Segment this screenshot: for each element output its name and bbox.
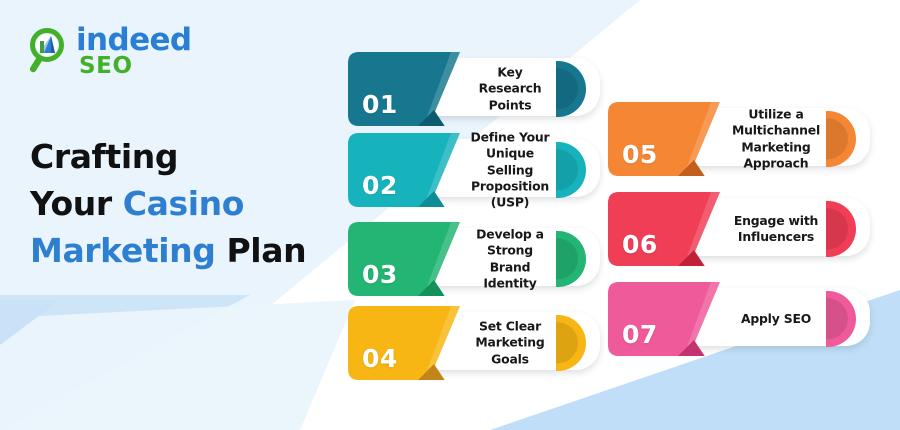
- step-card-inner: 01Key ResearchPoints: [348, 52, 600, 126]
- title-line-2: Your Casino: [30, 181, 330, 228]
- step-label: Key ResearchPoints: [466, 65, 554, 114]
- step-number-block: 04: [348, 306, 466, 380]
- logo-wordmark: indeed SEO: [76, 26, 192, 77]
- logo-word-primary: indeed: [76, 26, 192, 55]
- title-text-plan: Plan: [215, 231, 306, 270]
- step-number-block: 07: [608, 282, 726, 356]
- step-card[interactable]: 04Set ClearMarketing Goals: [348, 306, 600, 380]
- step-label-line: Marketing Approach: [728, 139, 824, 172]
- step-number-block: 05: [608, 102, 726, 176]
- title-text-marketing: Marketing: [30, 231, 215, 270]
- step-card-inner: 04Set ClearMarketing Goals: [348, 306, 600, 380]
- magnifying-glass-chart-icon: [26, 28, 70, 74]
- step-label-line: Key Research: [466, 65, 554, 98]
- step-card[interactable]: 02Define YourUnique SellingProposition (…: [348, 133, 600, 207]
- step-number-block: 03: [348, 222, 466, 296]
- step-card[interactable]: 06Engage withInfluencers: [608, 192, 870, 266]
- step-number-block: 01: [348, 52, 466, 126]
- step-label-line: Influencers: [728, 229, 824, 245]
- step-label: Utilize a MultichannelMarketing Approach: [728, 107, 824, 172]
- step-label-line: Unique Selling: [466, 146, 554, 179]
- step-label-line: Set Clear: [466, 319, 554, 335]
- step-number: 03: [348, 260, 466, 296]
- step-label-line: Proposition (USP): [466, 178, 554, 211]
- step-number-block: 06: [608, 192, 726, 266]
- step-label-line: Apply SEO: [728, 311, 824, 327]
- step-number: 02: [348, 171, 466, 207]
- step-card[interactable]: 07Apply SEO: [608, 282, 870, 356]
- step-label-line: Marketing Goals: [466, 335, 554, 368]
- step-label-line: Engage with: [728, 213, 824, 229]
- step-label-line: Develop a Strong: [466, 227, 554, 260]
- step-card-inner: 03Develop a StrongBrand Identity: [348, 222, 600, 296]
- step-label: Develop a StrongBrand Identity: [466, 227, 554, 292]
- step-label-line: Points: [466, 97, 554, 113]
- step-number: 04: [348, 344, 466, 380]
- step-number: 07: [608, 320, 726, 356]
- step-card-inner: 06Engage withInfluencers: [608, 192, 870, 266]
- step-label-line: Utilize a Multichannel: [728, 107, 824, 140]
- title-line-3: Marketing Plan: [30, 228, 330, 275]
- title-text-your: Your: [30, 184, 123, 223]
- step-card-inner: 02Define YourUnique SellingProposition (…: [348, 133, 600, 207]
- page-title: Crafting Your Casino Marketing Plan: [30, 134, 330, 275]
- step-label-line: Define Your: [466, 129, 554, 145]
- step-card[interactable]: 05Utilize a MultichannelMarketing Approa…: [608, 102, 870, 176]
- step-label: Engage withInfluencers: [728, 213, 824, 246]
- infographic-canvas: indeed SEO Crafting Your Casino Marketin…: [0, 0, 900, 430]
- step-card-inner: 07Apply SEO: [608, 282, 870, 356]
- title-text-casino: Casino: [123, 184, 244, 223]
- step-label: Set ClearMarketing Goals: [466, 319, 554, 368]
- step-label-line: Brand Identity: [466, 259, 554, 292]
- step-card[interactable]: 01Key ResearchPoints: [348, 52, 600, 126]
- step-number: 05: [608, 140, 726, 176]
- step-card-inner: 05Utilize a MultichannelMarketing Approa…: [608, 102, 870, 176]
- brand-logo[interactable]: indeed SEO: [26, 26, 192, 77]
- step-number: 06: [608, 230, 726, 266]
- step-card[interactable]: 03Develop a StrongBrand Identity: [348, 222, 600, 296]
- logo-word-secondary: SEO: [79, 56, 192, 77]
- title-line-1: Crafting: [30, 134, 330, 181]
- title-text-crafting: Crafting: [30, 137, 178, 176]
- step-number: 01: [348, 90, 466, 126]
- step-label: Apply SEO: [728, 311, 824, 327]
- step-number-block: 02: [348, 133, 466, 207]
- step-label: Define YourUnique SellingProposition (US…: [466, 129, 554, 210]
